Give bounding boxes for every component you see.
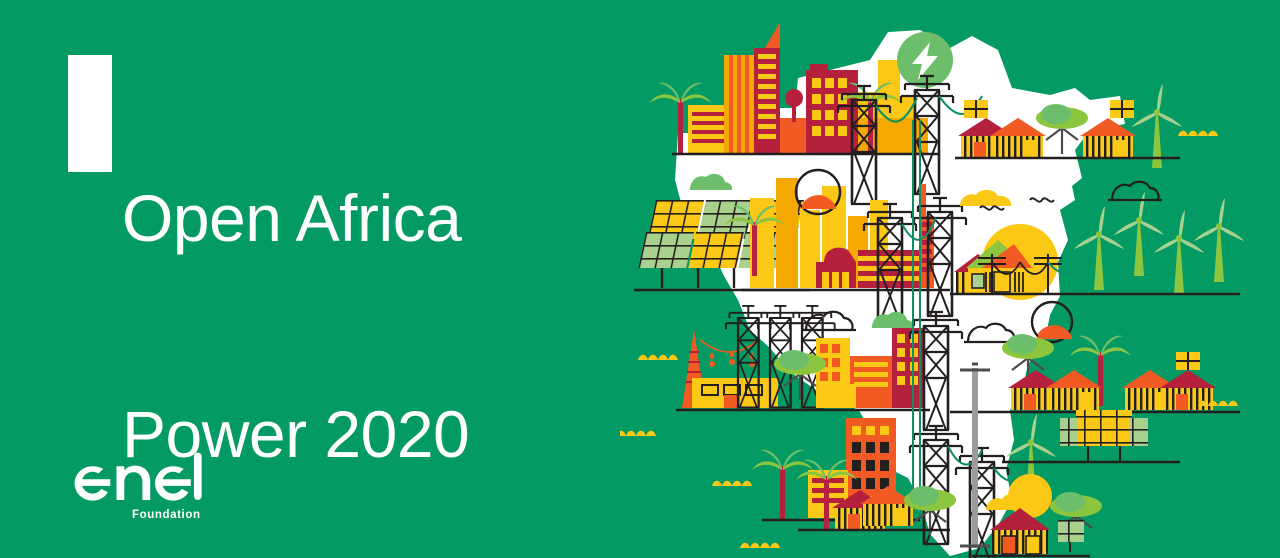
enel-wordmark-icon [66,452,202,508]
rooftop-solar-panel [1110,100,1134,118]
enel-foundation-subtitle: Foundation [132,509,201,521]
africa-energy-illustration [620,0,1280,558]
rooftop-solar-panel [964,100,988,118]
lightning-bolt-badge [897,32,953,88]
rooftop-solar-panel [1176,352,1200,370]
banner: Open Africa Power 2020 Foundation [0,0,1280,558]
title-accent-bar [68,55,112,172]
enel-foundation-logo: Foundation [66,452,266,536]
text-block: Open Africa Power 2020 Foundation [0,0,620,558]
page-title-line-1: Open Africa [122,182,469,254]
